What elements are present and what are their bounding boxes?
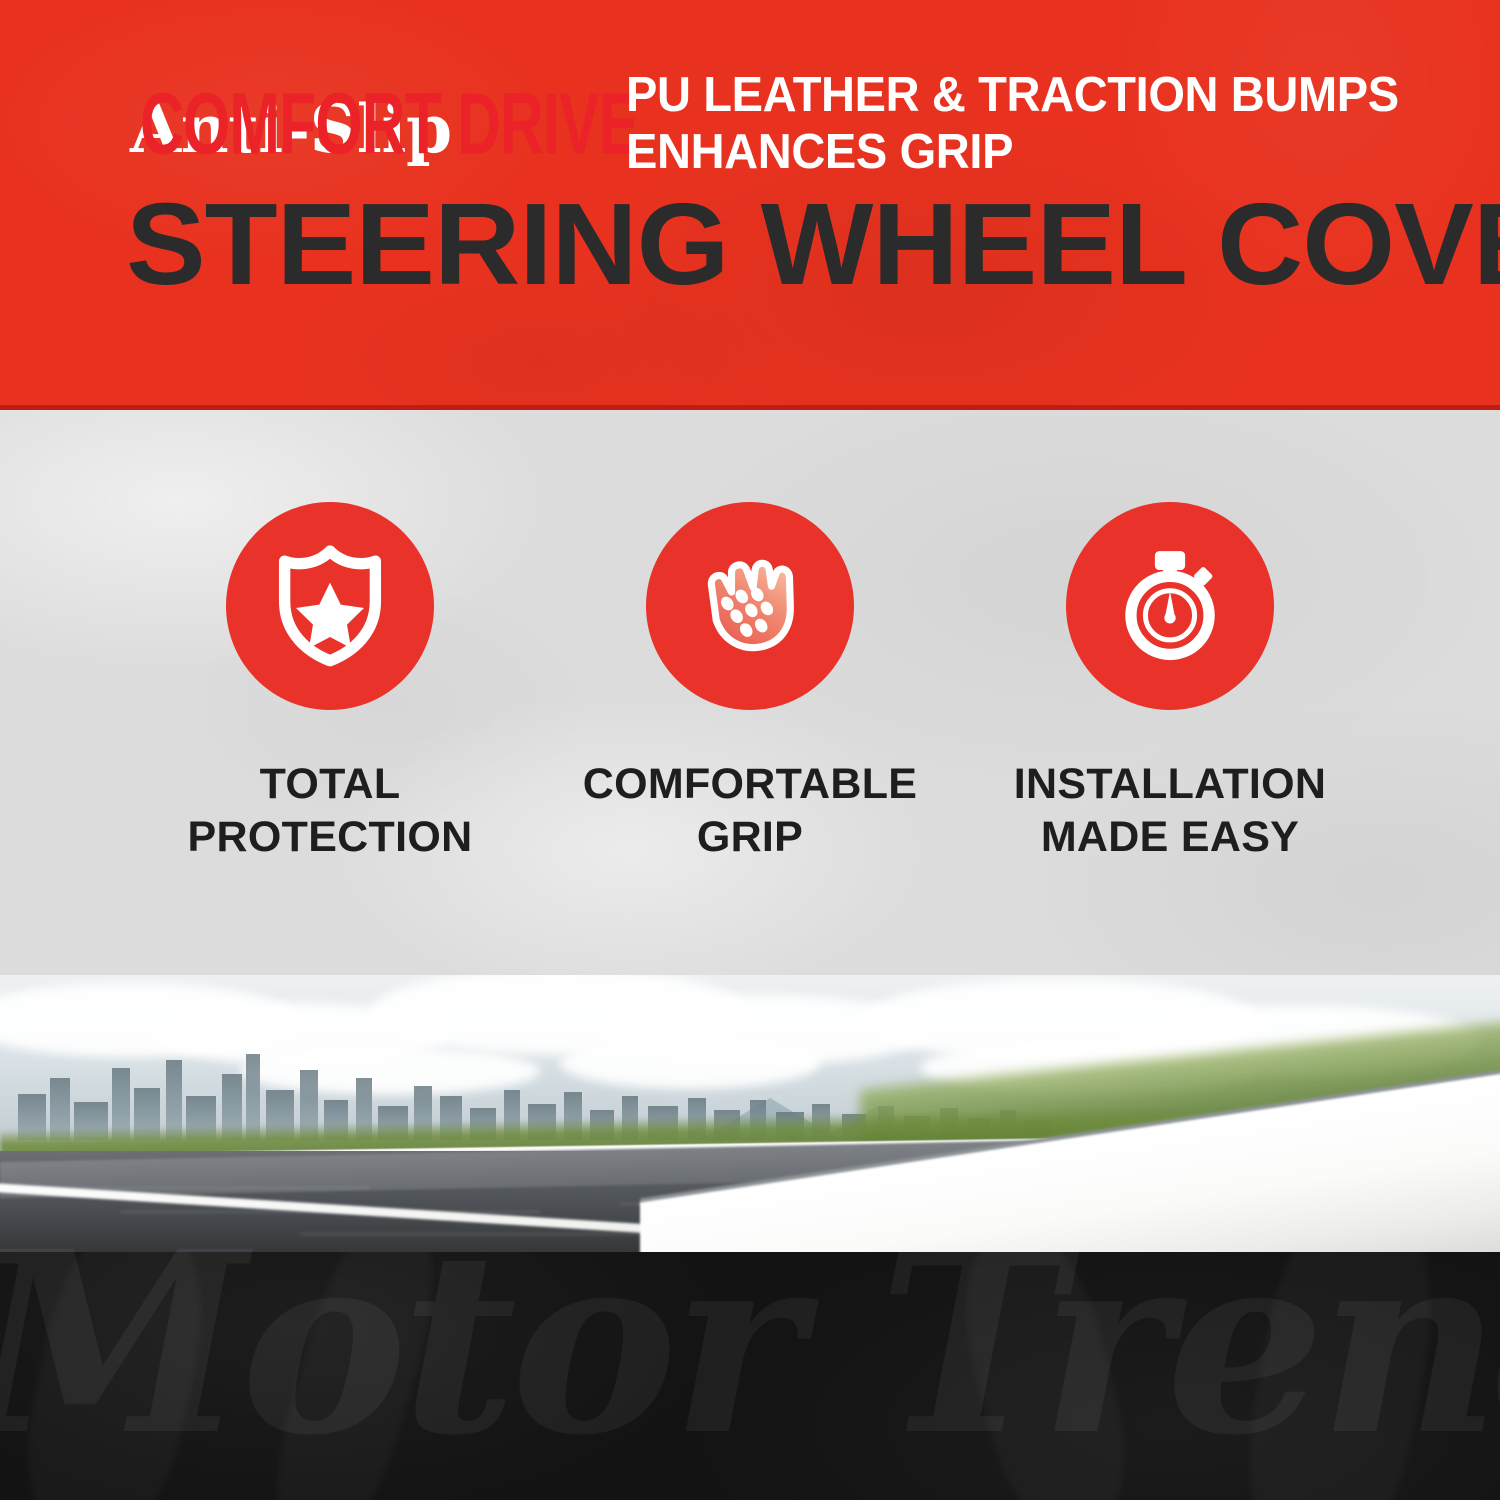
- feature-label-3: INSTALLATION MADE EASY: [1014, 758, 1327, 864]
- footer-tagline-line1: PU LEATHER & TRACTION BUMPS: [626, 67, 1399, 124]
- feature-label-1: TOTAL PROTECTION: [188, 758, 473, 864]
- feature-label-1-line2: PROTECTION: [188, 811, 473, 864]
- footer-tagline-line2: ENHANCES GRIP: [626, 124, 1399, 181]
- hero-road-photo: [0, 975, 1500, 1252]
- tire-mark: [946, 1252, 1145, 1500]
- feature-label-2: COMFORTABLE GRIP: [583, 758, 918, 864]
- feature-label-1-line1: TOTAL: [188, 758, 473, 811]
- tire-mark: [8, 1252, 221, 1500]
- feature-installation-made-easy: INSTALLATION MADE EASY: [960, 502, 1380, 864]
- motion-streak: [30, 1187, 370, 1189]
- tire-mark: [1230, 1252, 1450, 1500]
- footer-content: COMFORT DRIVE PU LEATHER & TRACTION BUMP…: [0, 0, 1500, 248]
- footer-tagline: PU LEATHER & TRACTION BUMPS ENHANCES GRI…: [626, 67, 1399, 182]
- shield-star-icon: [267, 541, 393, 672]
- features-row: TOTAL PROTECTION: [0, 410, 1500, 975]
- feature-comfortable-grip: COMFORTABLE GRIP: [540, 502, 960, 864]
- tire-mark: [255, 1252, 454, 1500]
- feature-label-2-line1: COMFORTABLE: [583, 758, 918, 811]
- feature-label-2-line2: GRIP: [583, 811, 918, 864]
- feature-total-protection: TOTAL PROTECTION: [120, 502, 540, 864]
- stopwatch-icon: [1107, 541, 1233, 672]
- feature-label-3-line2: MADE EASY: [1014, 811, 1327, 864]
- motion-streak: [120, 1211, 540, 1213]
- features-band: TOTAL PROTECTION: [0, 410, 1500, 975]
- footer-band: [0, 1252, 1500, 1500]
- feature-label-3-line1: INSTALLATION: [1014, 758, 1327, 811]
- footer-headline: COMFORT DRIVE: [140, 80, 525, 167]
- hand-grip-icon: [685, 539, 815, 674]
- feature-icon-badge-2: [646, 502, 854, 710]
- feature-icon-badge-3: [1066, 502, 1274, 710]
- feature-icon-badge-1: [226, 502, 434, 710]
- product-infographic-poster: Anti-Slip STEERING WHEEL COVER TOTAL PRO…: [0, 0, 1500, 1500]
